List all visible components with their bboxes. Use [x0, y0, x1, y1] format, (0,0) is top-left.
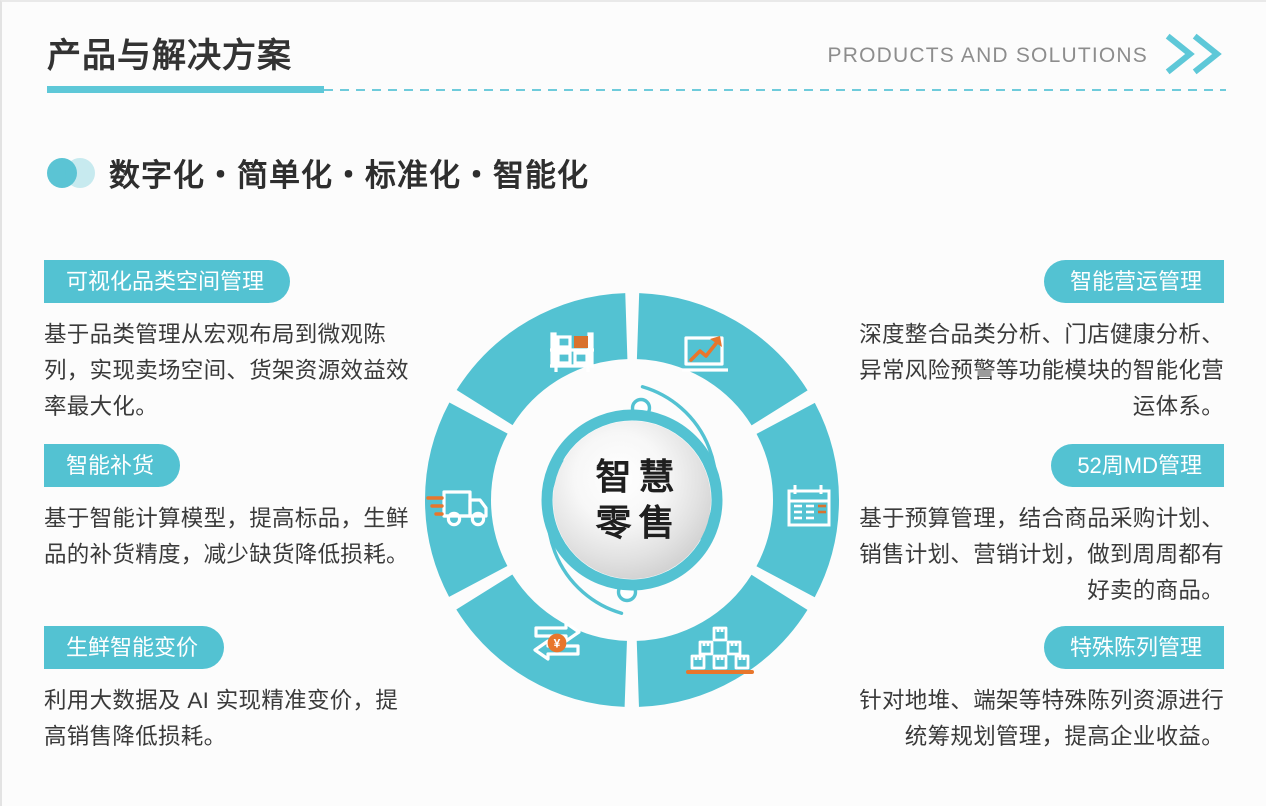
page-header: 产品与解决方案 PRODUCTS AND SOLUTIONS — [2, 2, 1266, 102]
feature-label: 特殊陈列管理 — [1044, 626, 1224, 669]
central-donut-diagram: ¥ 智慧 零售 — [400, 290, 870, 710]
feature-label: 可视化品类空间管理 — [44, 260, 290, 303]
slide-page: 产品与解决方案 PRODUCTS AND SOLUTIONS 数字化・简单化・标… — [0, 0, 1266, 806]
feature-block-visual-category-space[interactable]: 可视化品类空间管理 基于品类管理从宏观布局到微观陈列，实现卖场空间、货架资源效益… — [44, 260, 414, 425]
feature-label: 生鲜智能变价 — [44, 626, 224, 669]
page-title-english: PRODUCTS AND SOLUTIONS — [828, 44, 1148, 68]
header-rule-dashed — [324, 89, 1226, 91]
page-title: 产品与解决方案 — [47, 28, 292, 77]
feature-block-smart-operations[interactable]: 智能营运管理 深度整合品类分析、门店健康分析、异常风险预警等功能模块的智能化营运… — [854, 260, 1224, 425]
feature-block-smart-replenishment[interactable]: 智能补货 基于智能计算模型，提高标品，生鲜品的补货精度，减少缺货降低损耗。 — [44, 444, 414, 573]
feature-label: 智能营运管理 — [1044, 260, 1224, 303]
feature-label: 52周MD管理 — [1051, 444, 1224, 487]
double-chevron-right-icon — [1164, 32, 1226, 76]
subtitle-text: 数字化・简单化・标准化・智能化 — [109, 150, 589, 195]
currency-symbol: ¥ — [554, 637, 561, 651]
header-rule-solid — [47, 86, 324, 93]
feature-body: 基于品类管理从宏观布局到微观陈列，实现卖场空间、货架资源效益效率最大化。 — [44, 317, 414, 425]
overlapping-circles-icon — [47, 157, 109, 189]
feature-body: 针对地堆、端架等特殊陈列资源进行统筹规划管理，提高企业收益。 — [854, 683, 1224, 755]
feature-body: 利用大数据及 AI 实现精准变价，提高销售降低损耗。 — [44, 683, 414, 755]
feature-block-special-display[interactable]: 特殊陈列管理 针对地堆、端架等特殊陈列资源进行统筹规划管理，提高企业收益。 — [854, 626, 1224, 755]
feature-body: 深度整合品类分析、门店健康分析、异常风险预警等功能模块的智能化营运体系。 — [854, 317, 1224, 425]
feature-body: 基于智能计算模型，提高标品，生鲜品的补货精度，减少缺货降低损耗。 — [44, 501, 414, 573]
feature-label: 智能补货 — [44, 444, 180, 487]
subtitle-row: 数字化・简单化・标准化・智能化 — [47, 150, 589, 195]
feature-block-fresh-smart-pricing[interactable]: 生鲜智能变价 利用大数据及 AI 实现精准变价，提高销售降低损耗。 — [44, 626, 414, 755]
core-fill — [553, 421, 711, 579]
feature-block-52-week-md[interactable]: 52周MD管理 基于预算管理，结合商品采购计划、销售计划、营销计划，做到周周都有… — [854, 444, 1224, 609]
feature-body: 基于预算管理，结合商品采购计划、销售计划、营销计划，做到周周都有好卖的商品。 — [854, 501, 1224, 609]
